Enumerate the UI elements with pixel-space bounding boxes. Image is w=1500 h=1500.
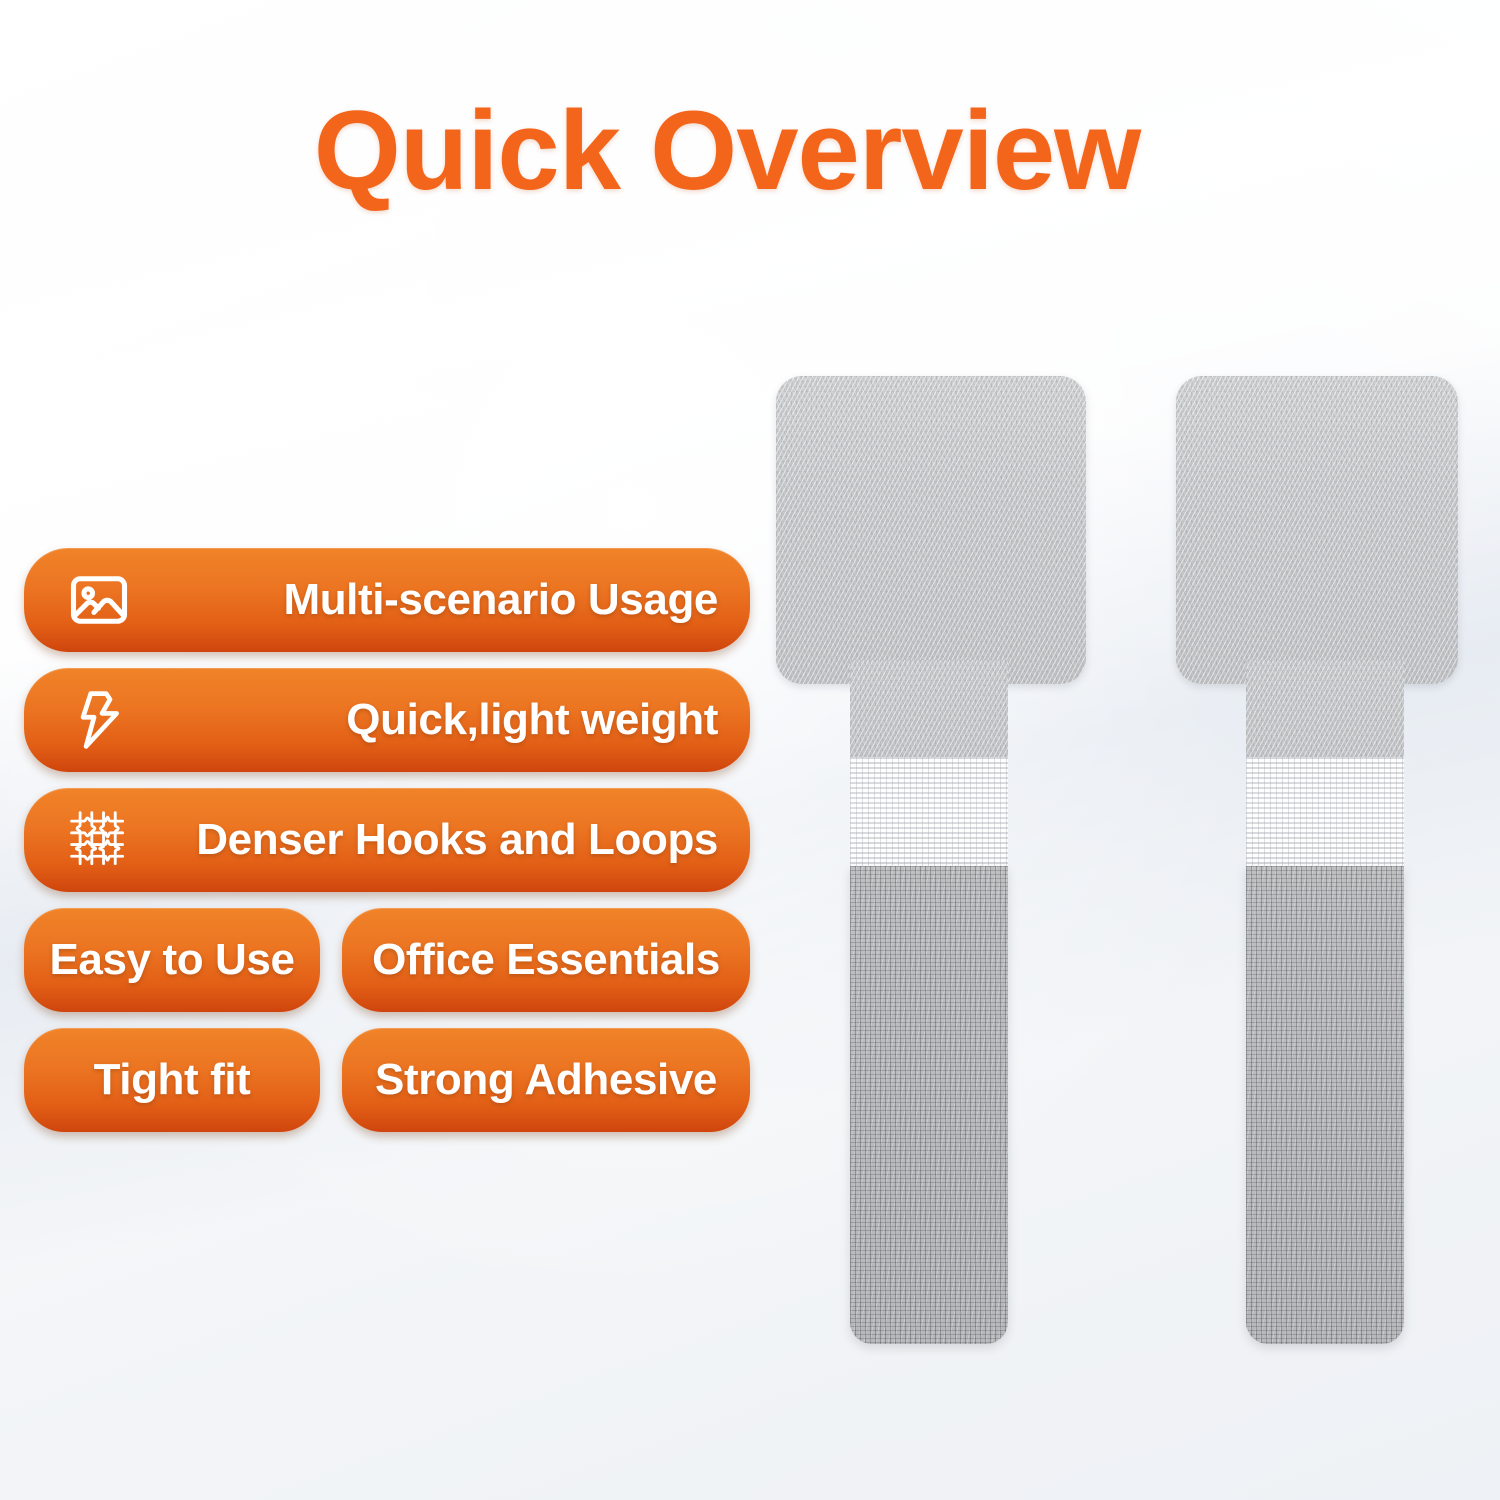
feature-pill-office-essentials[interactable]: Office Essentials xyxy=(342,908,750,1012)
woven-band-right xyxy=(1246,757,1404,869)
feature-pill-label: Office Essentials xyxy=(372,935,720,985)
weave-icon xyxy=(62,803,136,877)
feature-pill-label: Easy to Use xyxy=(49,935,294,985)
hook-pad-right xyxy=(1176,376,1458,684)
strap-neck-left xyxy=(850,660,1008,764)
hook-pad-left xyxy=(776,376,1086,684)
feature-pill-denser-hooks-and-loops[interactable]: Denser Hooks and Loops xyxy=(24,788,750,892)
strap-neck-right xyxy=(1246,660,1404,764)
feature-pill-row-1: Easy to Use Office Essentials xyxy=(24,908,780,1012)
loop-tail-left xyxy=(850,866,1008,1344)
feature-pill-easy-to-use[interactable]: Easy to Use xyxy=(24,908,320,1012)
image-icon xyxy=(62,563,136,637)
feature-pill-tight-fit[interactable]: Tight fit xyxy=(24,1028,320,1132)
feature-pill-label: Tight fit xyxy=(94,1055,251,1105)
feature-pill-label: Denser Hooks and Loops xyxy=(136,815,718,865)
feature-pill-row-2: Tight fit Strong Adhesive xyxy=(24,1028,780,1132)
feature-list: Multi-scenario Usage Quick,light weight xyxy=(24,548,780,1148)
page-title-text: Quick Overview xyxy=(314,92,1140,210)
feature-pill-label: Multi-scenario Usage xyxy=(136,575,718,625)
page-title: Quick Overview xyxy=(0,92,1500,210)
feature-pill-strong-adhesive[interactable]: Strong Adhesive xyxy=(342,1028,750,1132)
feature-pill-multi-scenario-usage[interactable]: Multi-scenario Usage xyxy=(24,548,750,652)
lightning-icon xyxy=(62,683,136,757)
woven-band-left xyxy=(850,757,1008,869)
feature-pill-label: Quick,light weight xyxy=(136,695,718,745)
feature-pill-label: Strong Adhesive xyxy=(375,1055,717,1105)
loop-tail-right xyxy=(1246,866,1404,1344)
feature-pill-quick-light-weight[interactable]: Quick,light weight xyxy=(24,668,750,772)
